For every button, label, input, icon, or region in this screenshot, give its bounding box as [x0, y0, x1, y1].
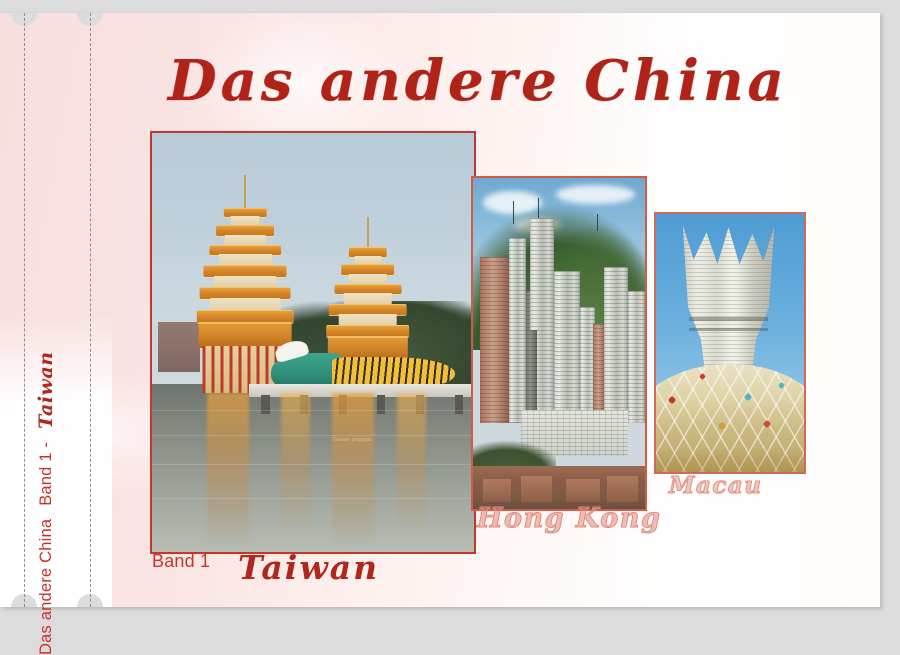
taiwan-photo: Taiwan pagoda — [150, 131, 476, 554]
taiwan-reflection-far — [397, 393, 426, 531]
macau-tower-band-1 — [689, 317, 769, 321]
spine-separator-label: Band 1 - — [37, 442, 56, 506]
spine-text-block: Das andere China Band 1 - Taiwan — [33, 135, 59, 655]
fold-line-right — [90, 13, 91, 607]
taiwan-reflection-left — [207, 393, 249, 544]
hongkong-tower-6 — [554, 271, 580, 423]
taiwan-reflection-right — [332, 393, 374, 544]
hongkong-tower-10 — [628, 291, 645, 423]
taiwan-reflection-mid — [281, 393, 310, 531]
fold-line-left — [24, 13, 25, 607]
hongkong-tower-1 — [480, 257, 509, 423]
taiwan-watermark: Taiwan pagoda — [332, 437, 371, 443]
macau-dome-base — [654, 364, 806, 474]
hongkong-tower-9 — [604, 267, 628, 423]
hongkong-caption: Hong Kong — [477, 503, 661, 534]
hongkong-tower-2 — [509, 238, 526, 423]
cover-canvas: Das andere China Band 1 - Taiwan Das and… — [0, 0, 900, 622]
hongkong-photo — [471, 176, 647, 511]
band-label: Band 1 — [152, 551, 210, 572]
taiwan-caption: Taiwan — [238, 548, 379, 587]
cover-title: Das andere China — [168, 48, 788, 114]
taiwan-distant-building — [158, 322, 200, 372]
macau-photo — [654, 212, 806, 474]
spine-series-label: Das andere China — [37, 519, 56, 655]
macau-caption: Macau — [669, 472, 763, 499]
spine-volume-label: Taiwan — [35, 351, 57, 428]
macau-tower-band-2 — [689, 328, 769, 332]
